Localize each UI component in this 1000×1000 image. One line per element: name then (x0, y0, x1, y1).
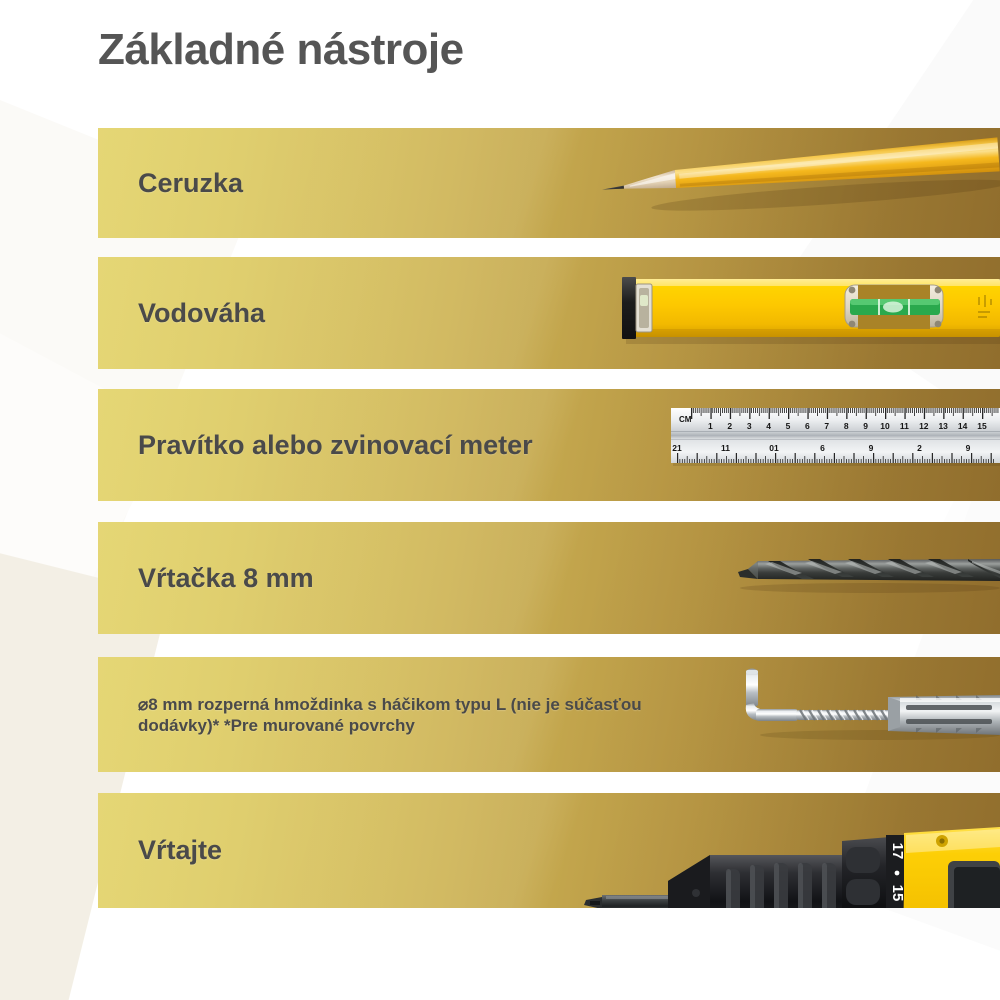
ruler-image: 123456789101112131415 2111016929 CM (655, 389, 1000, 501)
ruler-tick-label: 12 (919, 421, 929, 431)
ruler-tick-label: 3 (747, 421, 752, 431)
slide-canvas: Základné nástroje (0, 0, 1000, 1000)
ruler-tick-label: 14 (958, 421, 968, 431)
spirit-level-image (600, 257, 1000, 369)
list-item-label: ⌀8 mm rozperná hmoždinka s háčikom typu … (98, 693, 658, 736)
ruler-tick-label: 15 (977, 421, 987, 431)
ruler-tick-label: 21 (672, 443, 682, 453)
list-item-drill: 17 15 13 (98, 793, 1000, 908)
list-item-label: Vŕtajte (98, 834, 234, 867)
ruler-tick-label: 10 (880, 421, 890, 431)
ruler-tick-label: 13 (938, 421, 948, 431)
list-item-label: Vodováha (98, 297, 277, 330)
ruler-unit-label: CM (679, 415, 692, 424)
ruler-tick-label: 8 (844, 421, 849, 431)
list-item-label: Pravítko alebo zvinovací meter (98, 429, 545, 462)
ruler-tick-label: 2 (917, 443, 922, 453)
list-item-pencil: Ceruzka (98, 128, 1000, 238)
list-item-wall-plug: ⌀8 mm rozperná hmoždinka s háčikom typu … (98, 657, 1000, 772)
hook-screw-anchor-image (730, 657, 1000, 772)
ruler-tick-label: 4 (766, 421, 771, 431)
ruler-tick-label: 9 (966, 443, 971, 453)
pencil-image (580, 128, 1000, 238)
ruler-tick-label: 1 (708, 421, 713, 431)
ruler-tick-label: 6 (805, 421, 810, 431)
ruler-tick-label: 9 (863, 421, 868, 431)
torque-mark-17: 17 (889, 843, 906, 860)
page-title: Základné nástroje (98, 26, 464, 74)
ruler-tick-label: 11 (900, 421, 909, 431)
cordless-drill-image: 17 15 13 (550, 793, 1000, 908)
list-item-label: Vŕtačka 8 mm (98, 562, 326, 595)
list-item-ruler: 123456789101112131415 2111016929 CM Prav… (98, 389, 1000, 501)
ruler-tick-label: 7 (824, 421, 829, 431)
ruler-tick-label: 01 (769, 443, 779, 453)
list-item-label: Ceruzka (98, 167, 255, 200)
ruler-tick-label: 11 (721, 443, 730, 453)
ruler-tick-label: 9 (869, 443, 874, 453)
ruler-tick-label: 6 (820, 443, 825, 453)
list-item-spirit-level: Vodováha (98, 257, 1000, 369)
list-item-drill-bit: Vŕtačka 8 mm (98, 522, 1000, 634)
drill-bit-image (710, 522, 1000, 634)
torque-mark-15: 15 (889, 885, 906, 902)
ruler-tick-label: 2 (727, 421, 732, 431)
ruler-tick-label: 5 (786, 421, 791, 431)
